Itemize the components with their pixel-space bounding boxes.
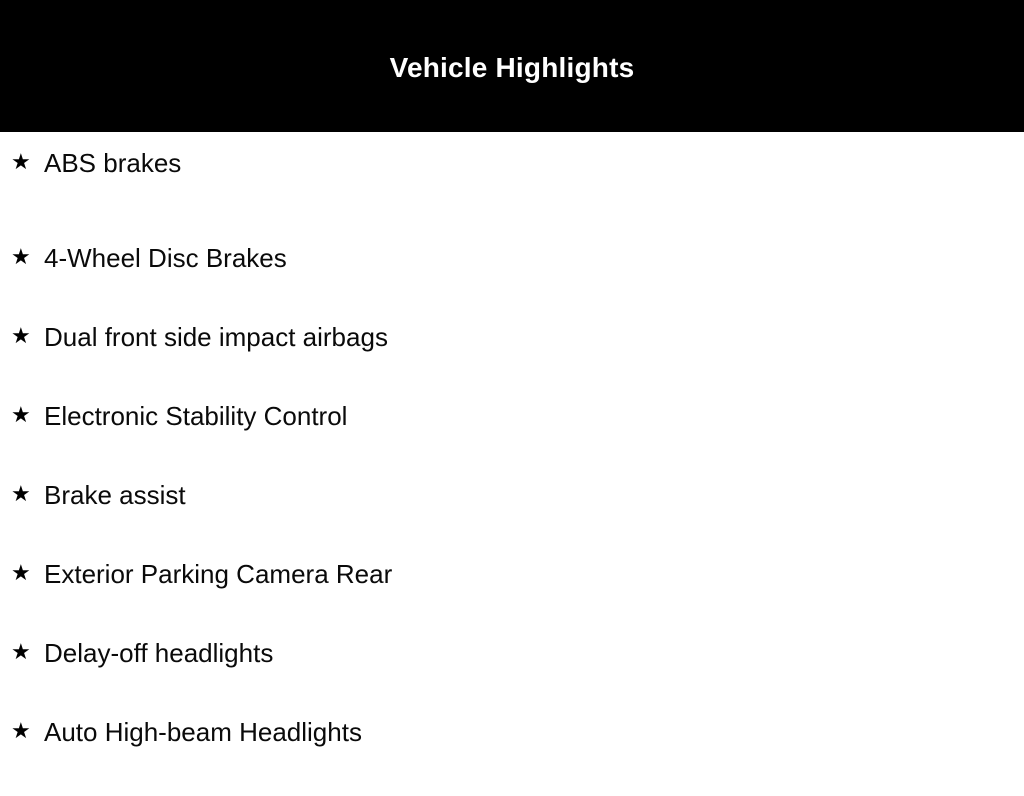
list-item: ★ Auto High-beam Headlights xyxy=(0,717,1024,796)
star-icon: ★ xyxy=(0,638,32,668)
star-icon: ★ xyxy=(0,559,32,589)
star-icon: ★ xyxy=(0,148,32,178)
highlight-label: ABS brakes xyxy=(32,148,181,178)
star-icon: ★ xyxy=(0,717,32,747)
list-item: ★ Electronic Stability Control xyxy=(0,401,1024,480)
highlight-label: 4-Wheel Disc Brakes xyxy=(32,243,287,273)
page-title: Vehicle Highlights xyxy=(390,52,635,84)
vehicle-highlights-list: ★ ABS brakes ★ 4-Wheel Disc Brakes ★ Dua… xyxy=(0,132,1024,768)
list-item: ★ Brake assist xyxy=(0,480,1024,559)
star-icon: ★ xyxy=(0,322,32,352)
vehicle-highlights-page: Vehicle Highlights ★ ABS brakes ★ 4-Whee… xyxy=(0,0,1024,768)
star-icon: ★ xyxy=(0,243,32,273)
list-item: ★ Exterior Parking Camera Rear xyxy=(0,559,1024,638)
highlight-label: Auto High-beam Headlights xyxy=(32,717,362,747)
star-icon: ★ xyxy=(0,480,32,510)
highlight-label: Exterior Parking Camera Rear xyxy=(32,559,392,589)
list-item: ★ 4-Wheel Disc Brakes xyxy=(0,243,1024,322)
highlight-label: Dual front side impact airbags xyxy=(32,322,388,352)
star-icon: ★ xyxy=(0,401,32,431)
highlight-label: Delay-off headlights xyxy=(32,638,273,668)
page-header: Vehicle Highlights xyxy=(0,0,1024,132)
list-item: ★ Dual front side impact airbags xyxy=(0,322,1024,401)
highlight-label: Brake assist xyxy=(32,480,186,510)
list-item: ★ ABS brakes xyxy=(0,132,1024,243)
highlight-label: Electronic Stability Control xyxy=(32,401,347,431)
list-item: ★ Delay-off headlights xyxy=(0,638,1024,717)
